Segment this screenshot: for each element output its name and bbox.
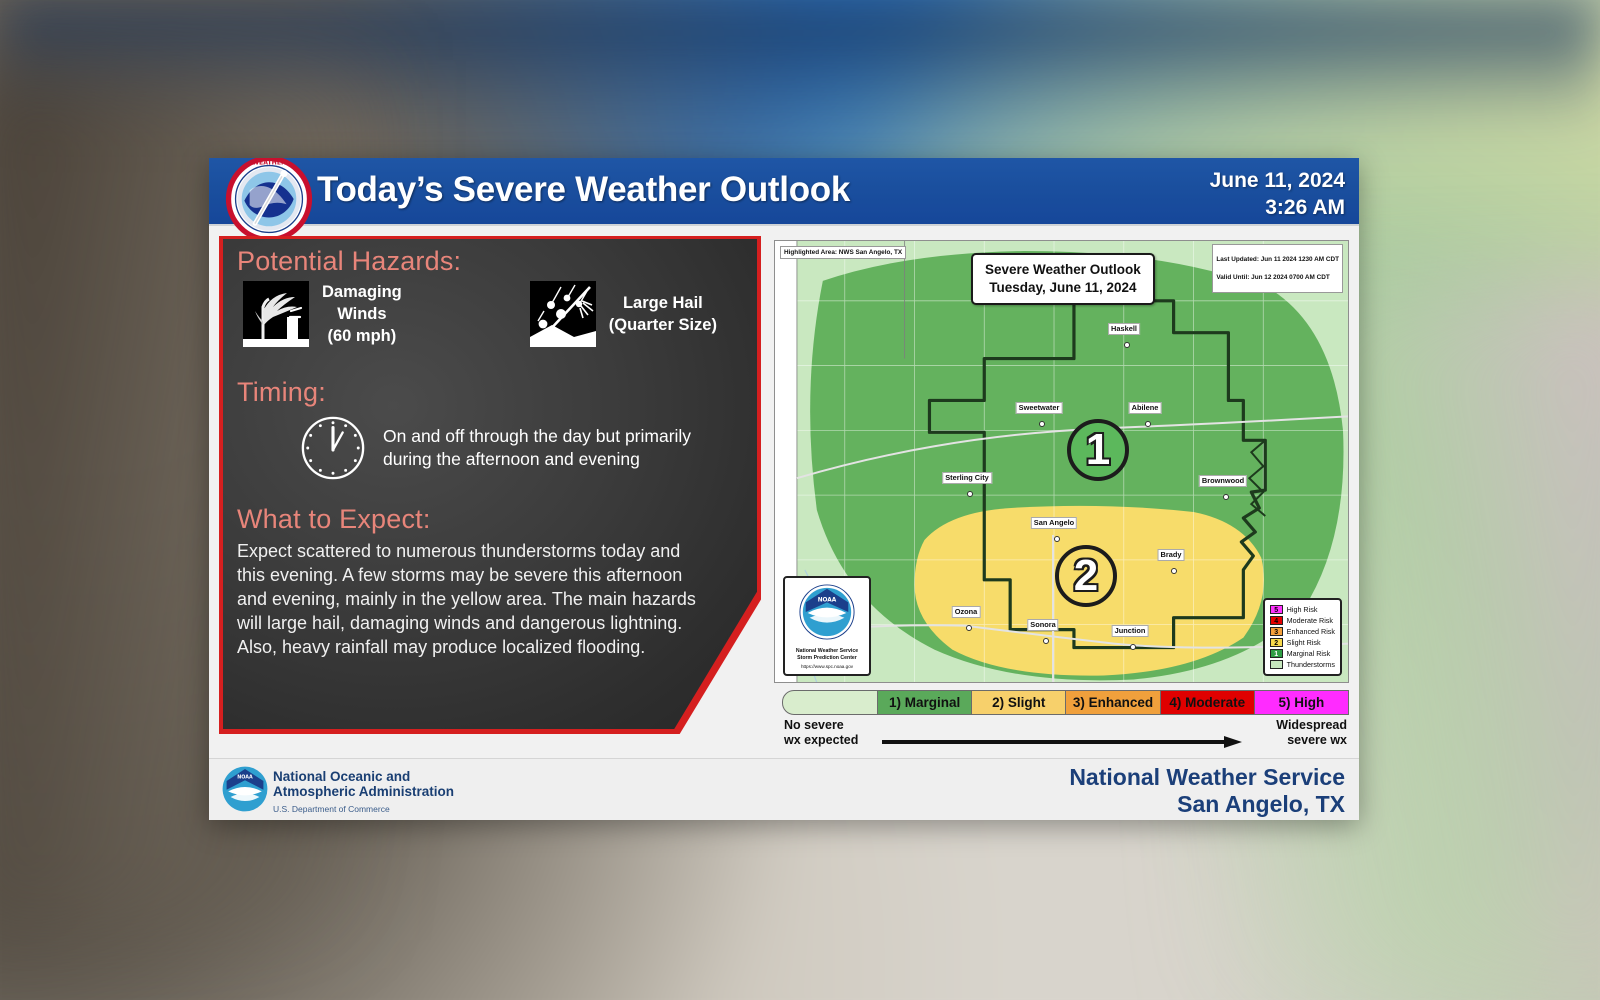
city-dot [1043,638,1049,644]
legend-label: Enhanced Risk [1287,627,1335,636]
hazard-label: Damaging Winds (60 mph) [322,281,402,347]
city-label: Brownwood [1199,475,1247,487]
hazards-heading: Potential Hazards: [237,246,743,277]
legend-chip: 2 [1270,638,1283,647]
city-dot [967,491,973,497]
city-dot [966,625,972,631]
expect-section: What to Expect: Expect scattered to nume… [237,504,743,659]
svg-text:NOAA: NOAA [237,775,253,781]
scale-right-note: Widespread severe wx [1276,718,1347,748]
legend-row-moderate: 4 Moderate Risk [1270,615,1335,626]
scale-no-risk-cap [782,690,878,715]
hazard-large-hail: Large Hail (Quarter Size) [530,281,717,347]
spc-caption: National Weather Service Storm Predictio… [785,648,869,662]
map-highlighted-area-tag: Highlighted Area: NWS San Angelo, TX [780,246,906,259]
panel-content: Potential Hazards: [219,236,761,734]
hazard-damaging-winds: Damaging Winds (60 mph) [243,281,402,347]
timing-section: Timing: [237,377,743,482]
hazards-panel: Potential Hazards: [219,236,761,734]
city-dot [1054,536,1060,542]
noaa-line-1: National Oceanic and [273,769,454,784]
map-valid-until: Valid Until: Jun 12 2024 0700 AM CDT [1216,273,1339,282]
risk-scale-bar: 1) Marginal 2) Slight 3) Enhanced 4) Mod… [782,690,1349,715]
city-dot [1124,342,1130,348]
city-label: Sweetwater [1016,402,1063,414]
noaa-seal-icon: NOAA [221,765,269,813]
noaa-seal-icon: NOAA [798,583,856,641]
svg-text:WEATHER: WEATHER [252,160,286,167]
header-time: 3:26 AM [1210,194,1345,221]
noaa-wordmark: National Oceanic and Atmospheric Adminis… [273,769,454,817]
city-label: Sonora [1027,619,1058,631]
legend-chip: 1 [1270,649,1283,658]
map-validity-tag: Last Updated: Jun 11 2024 1230 AM CDT Va… [1212,244,1343,293]
scale-seg-moderate: 4) Moderate [1161,690,1255,715]
scale-notes: No severe wx expected Widespread severe … [782,718,1349,752]
spc-url: https://www.spc.noaa.gov [785,664,869,669]
map-title: Severe Weather Outlook Tuesday, June 11,… [971,253,1155,305]
header-date: June 11, 2024 [1210,167,1345,194]
city-label: Brady [1158,549,1185,561]
legend-chip: 5 [1270,605,1283,614]
noaa-line-3: U.S. Department of Commerce [273,802,454,817]
scale-seg-slight: 2) Slight [972,690,1066,715]
legend-label: Slight Risk [1287,638,1321,647]
city-label: San Angelo [1031,517,1077,529]
scale-seg-enhanced: 3) Enhanced [1066,690,1160,715]
nws-roundel-icon: WEATHER [225,158,313,245]
city-label: Sterling City [942,472,992,484]
header-datetime: June 11, 2024 3:26 AM [1210,167,1345,221]
legend-label: Thunderstorms [1287,660,1335,669]
expect-text: Expect scattered to numerous thunderstor… [237,539,707,659]
legend-chip [1270,660,1283,669]
large-hail-icon [530,281,596,347]
hazard-label: Large Hail (Quarter Size) [609,292,717,336]
office-signature: National Weather Service San Angelo, TX [1069,764,1345,818]
city-dot [1223,494,1229,500]
legend-label: High Risk [1287,605,1318,614]
legend-row-high: 5 High Risk [1270,604,1335,615]
map-frame: Highlighted Area: NWS San Angelo, TX Las… [774,240,1349,683]
city-dot [1145,421,1151,427]
svg-text:NOAA: NOAA [818,597,837,603]
spc-logo-box: NOAA National Weather Service Storm Pred… [783,576,871,676]
city-label: Haskell [1108,323,1140,335]
scale-left-note: No severe wx expected [784,718,858,748]
expect-heading: What to Expect: [237,504,743,535]
city-label: Ozona [952,606,981,618]
timing-row: On and off through the day but primarily… [299,414,743,482]
legend-label: Marginal Risk [1287,649,1331,658]
noaa-line-2: Atmospheric Administration [273,784,454,799]
timing-text: On and off through the day but primarily… [383,425,691,471]
legend-row-marginal: 1 Marginal Risk [1270,648,1335,659]
legend-row-enhanced: 3 Enhanced Risk [1270,626,1335,637]
city-dot [1171,568,1177,574]
legend-chip: 4 [1270,616,1283,625]
office-name: National Weather Service [1069,764,1345,791]
city-label: Abilene [1129,402,1162,414]
weather-outlook-graphic: WEATHER Today’s Severe Weather Outlook J… [209,158,1359,820]
risk-marker-1: 1 [1067,419,1129,481]
risk-legend: 5 High Risk 4 Moderate Risk 3 Enhanced R… [1263,598,1342,676]
map-last-updated: Last Updated: Jun 11 2024 1230 AM CDT [1216,255,1339,264]
office-location: San Angelo, TX [1069,791,1345,818]
city-dot [1039,421,1045,427]
hazards-list: Damaging Winds (60 mph) [243,281,743,347]
scale-arrow-icon [882,736,1242,748]
timing-heading: Timing: [237,377,743,408]
legend-chip: 3 [1270,627,1283,636]
risk-marker-2: 2 [1055,545,1117,607]
footer-bar: NOAA National Oceanic and Atmospheric Ad… [209,758,1359,820]
header-bar: WEATHER Today’s Severe Weather Outlook J… [209,158,1359,226]
page-title: Today’s Severe Weather Outlook [317,170,850,210]
legend-label: Moderate Risk [1287,616,1333,625]
spc-outlook-map: Highlighted Area: NWS San Angelo, TX Las… [774,240,1349,750]
legend-row-thunderstorms: Thunderstorms [1270,659,1335,670]
clock-icon [299,414,367,482]
damaging-winds-icon [243,281,309,347]
city-dot [1130,644,1136,650]
scale-seg-marginal: 1) Marginal [878,690,972,715]
scale-seg-high: 5) High [1255,690,1349,715]
city-label: Junction [1112,625,1149,637]
legend-row-slight: 2 Slight Risk [1270,637,1335,648]
